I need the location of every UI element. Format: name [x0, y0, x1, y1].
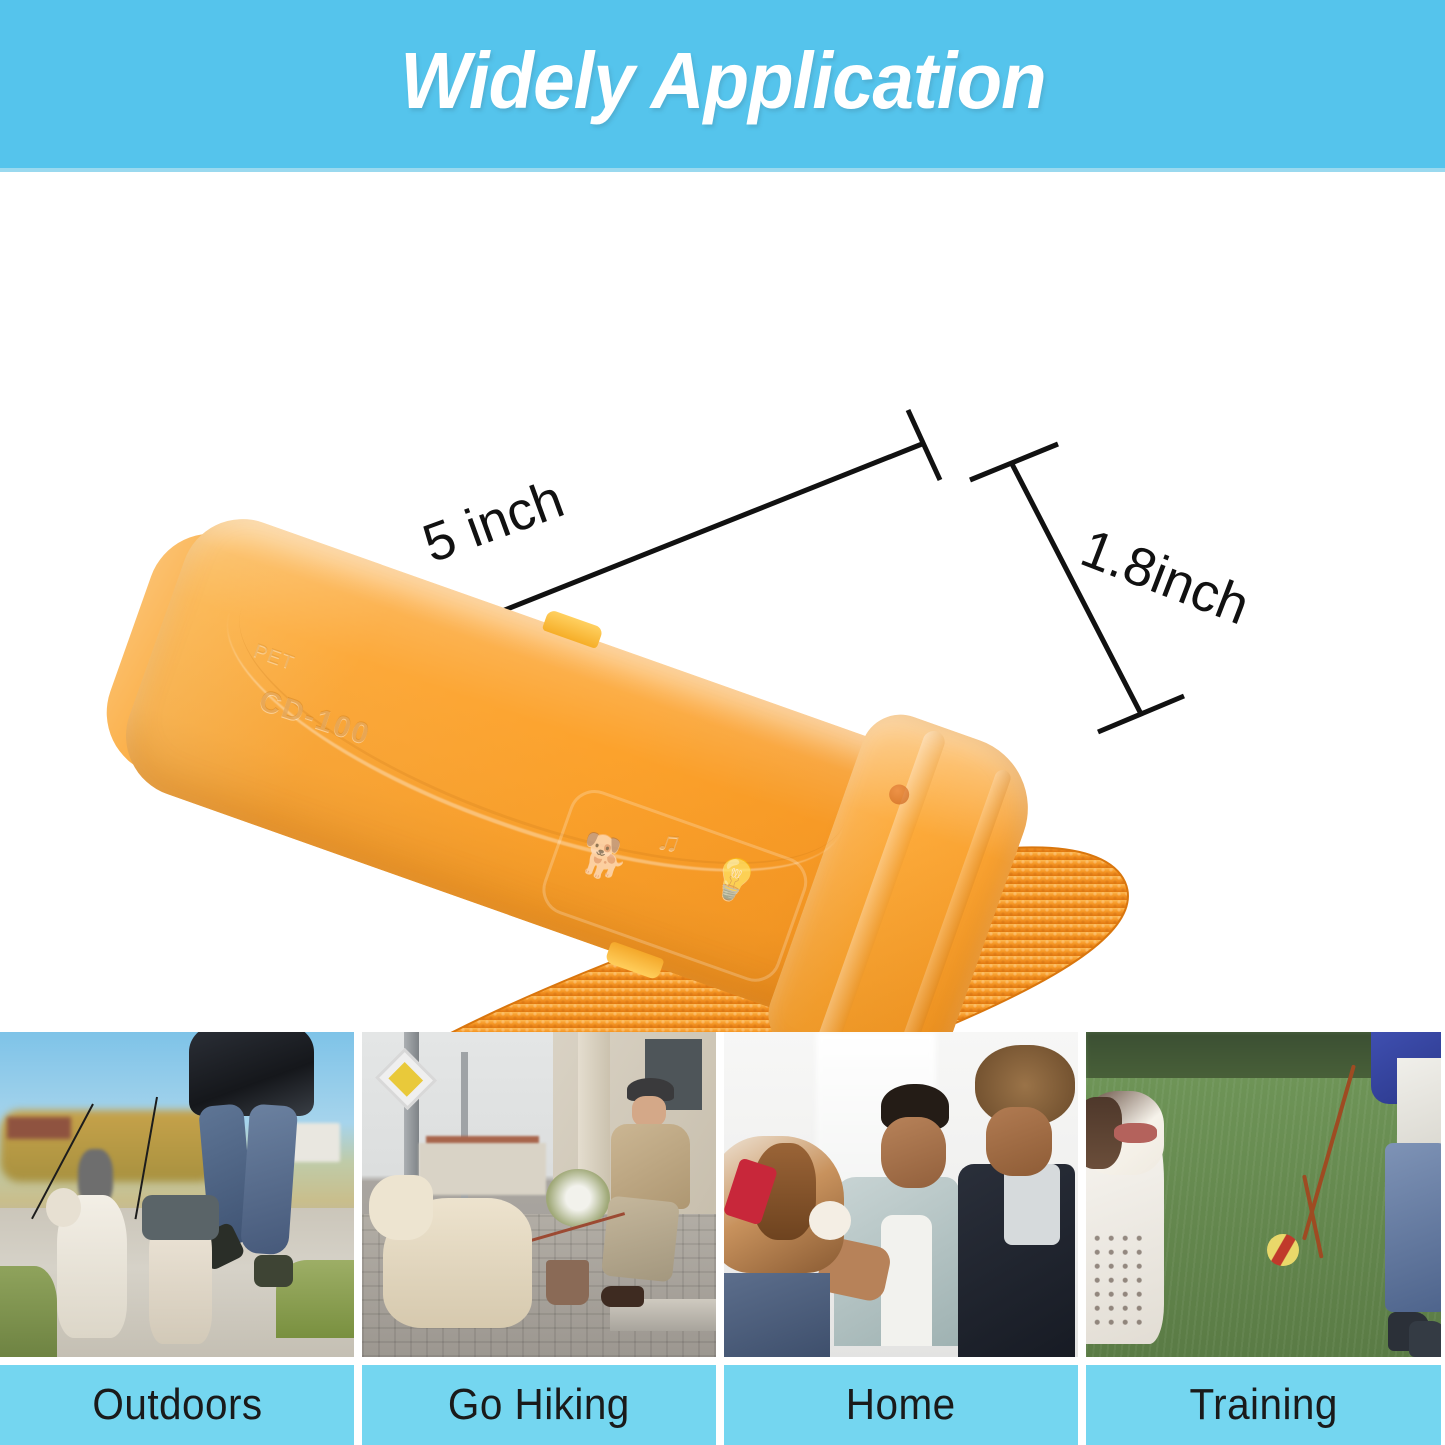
- page-title: Widely Application: [400, 41, 1045, 121]
- use-case-caption-bar: Outdoors Go Hiking Home Training: [0, 1365, 1445, 1445]
- caption-home-label: Home: [846, 1380, 956, 1430]
- photo-go-hiking: [362, 1032, 716, 1357]
- photo-training: [1086, 1032, 1441, 1357]
- caption-home: Home: [724, 1365, 1078, 1445]
- caption-go-hiking: Go Hiking: [362, 1365, 716, 1445]
- caption-outdoors: Outdoors: [0, 1365, 354, 1445]
- caption-training: Training: [1086, 1365, 1441, 1445]
- photo-outdoors: [0, 1032, 354, 1357]
- photo-home: [724, 1032, 1078, 1357]
- use-case-photo-strip: [0, 1032, 1445, 1357]
- header-banner: Widely Application: [0, 0, 1445, 172]
- caption-go-hiking-label: Go Hiking: [448, 1380, 630, 1430]
- product-hero-image: 5 inch 1.8inch: [0, 172, 1445, 1032]
- caption-outdoors-label: Outdoors: [92, 1380, 262, 1430]
- dimension-label-width: 1.8inch: [1073, 517, 1258, 637]
- caption-training-label: Training: [1189, 1380, 1337, 1430]
